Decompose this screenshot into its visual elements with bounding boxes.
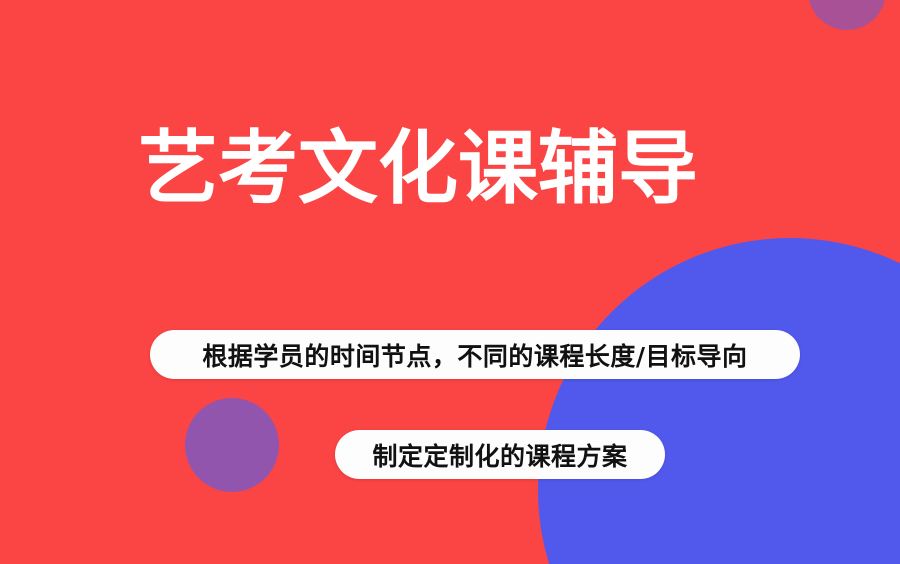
banner-pill-secondary: 制定定制化的课程方案 <box>335 430 665 479</box>
promo-banner: 艺考文化课辅导 根据学员的时间节点，不同的课程长度/目标导向 制定定制化的课程方… <box>0 0 900 564</box>
banner-pill-primary-label: 根据学员的时间节点，不同的课程长度/目标导向 <box>202 337 747 373</box>
banner-pill-primary: 根据学员的时间节点，不同的课程长度/目标导向 <box>150 330 800 379</box>
banner-content: 艺考文化课辅导 根据学员的时间节点，不同的课程长度/目标导向 制定定制化的课程方… <box>0 0 900 564</box>
banner-pill-secondary-label: 制定定制化的课程方案 <box>372 437 627 473</box>
banner-headline: 艺考文化课辅导 <box>138 128 698 210</box>
